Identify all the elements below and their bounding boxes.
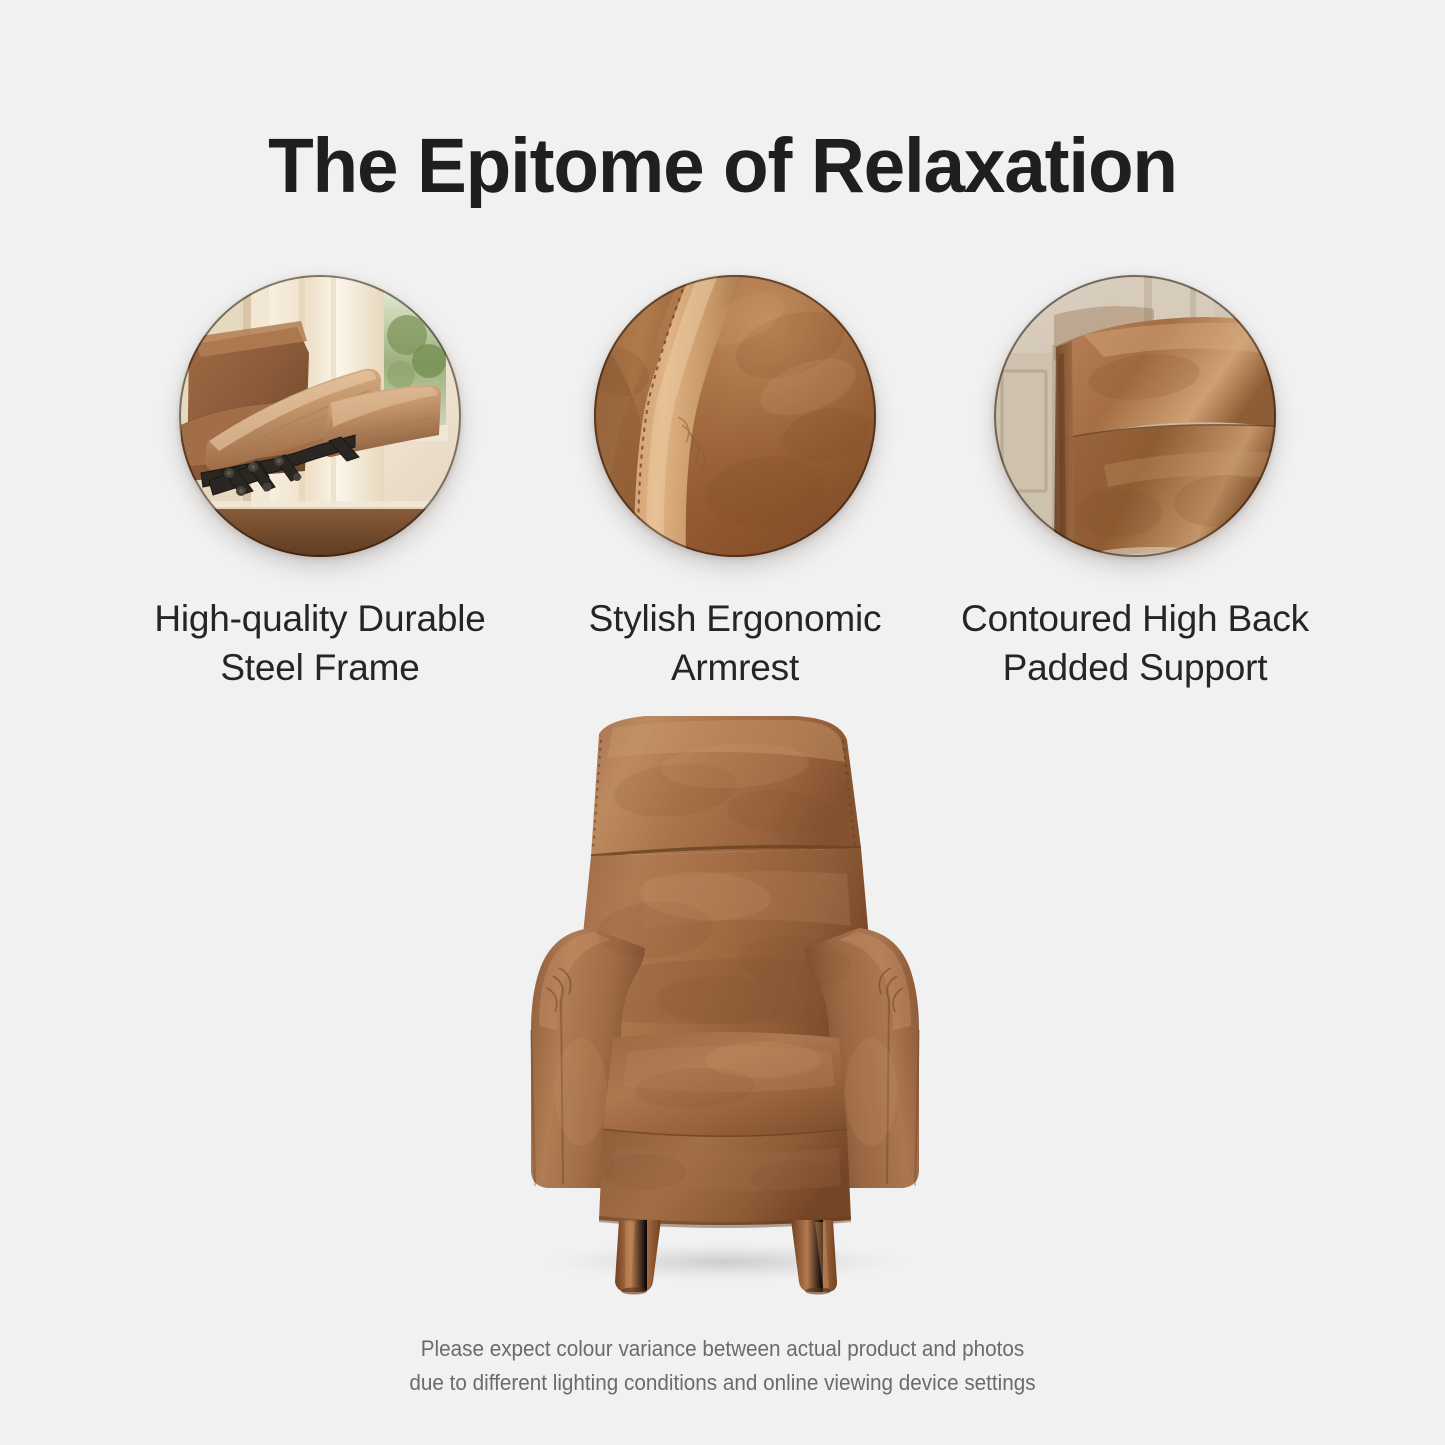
feature-row: High-quality Durable Steel Frame: [0, 275, 1445, 695]
recliner-footrest-illustration: [179, 275, 461, 557]
feature-item-high-back-support: Contoured High Back Padded Support: [935, 275, 1335, 693]
recliner-chair-illustration: [495, 700, 955, 1310]
feature-label-high-back-support: Contoured High Back Padded Support: [935, 595, 1335, 693]
high-back-cushion-illustration: [994, 275, 1276, 557]
feature-label-line2: Padded Support: [1003, 647, 1268, 688]
feature-label-line1: High-quality Durable: [154, 598, 485, 639]
feature-image-steel-frame: [179, 275, 461, 557]
page-title: The Epitome of Relaxation: [22, 128, 1424, 205]
product-feature-graphic: The Epitome of Relaxation: [0, 0, 1445, 1445]
colour-variance-disclaimer: Please expect colour variance between ac…: [43, 1332, 1401, 1400]
disclaimer-line1: Please expect colour variance between ac…: [43, 1332, 1401, 1366]
feature-label-line2: Armrest: [671, 647, 799, 688]
feature-item-steel-frame: High-quality Durable Steel Frame: [120, 275, 520, 693]
hero-product-image: [495, 700, 955, 1310]
feature-image-wrap-steel-frame: [179, 275, 461, 557]
feature-label-line1: Contoured High Back: [961, 598, 1309, 639]
feature-label-steel-frame: High-quality Durable Steel Frame: [120, 595, 520, 693]
feature-label-line2: Steel Frame: [220, 647, 419, 688]
feature-label-ergonomic-armrest: Stylish Ergonomic Armrest: [535, 595, 935, 693]
feature-label-line1: Stylish Ergonomic: [589, 598, 882, 639]
armrest-closeup-illustration: [594, 275, 876, 557]
feature-image-wrap-high-back-support: [994, 275, 1276, 557]
disclaimer-line2: due to different lighting conditions and…: [43, 1366, 1401, 1400]
feature-image-wrap-ergonomic-armrest: [594, 275, 876, 557]
feature-image-ergonomic-armrest: [594, 275, 876, 557]
feature-item-ergonomic-armrest: Stylish Ergonomic Armrest: [535, 275, 935, 693]
feature-image-high-back-support: [994, 275, 1276, 557]
